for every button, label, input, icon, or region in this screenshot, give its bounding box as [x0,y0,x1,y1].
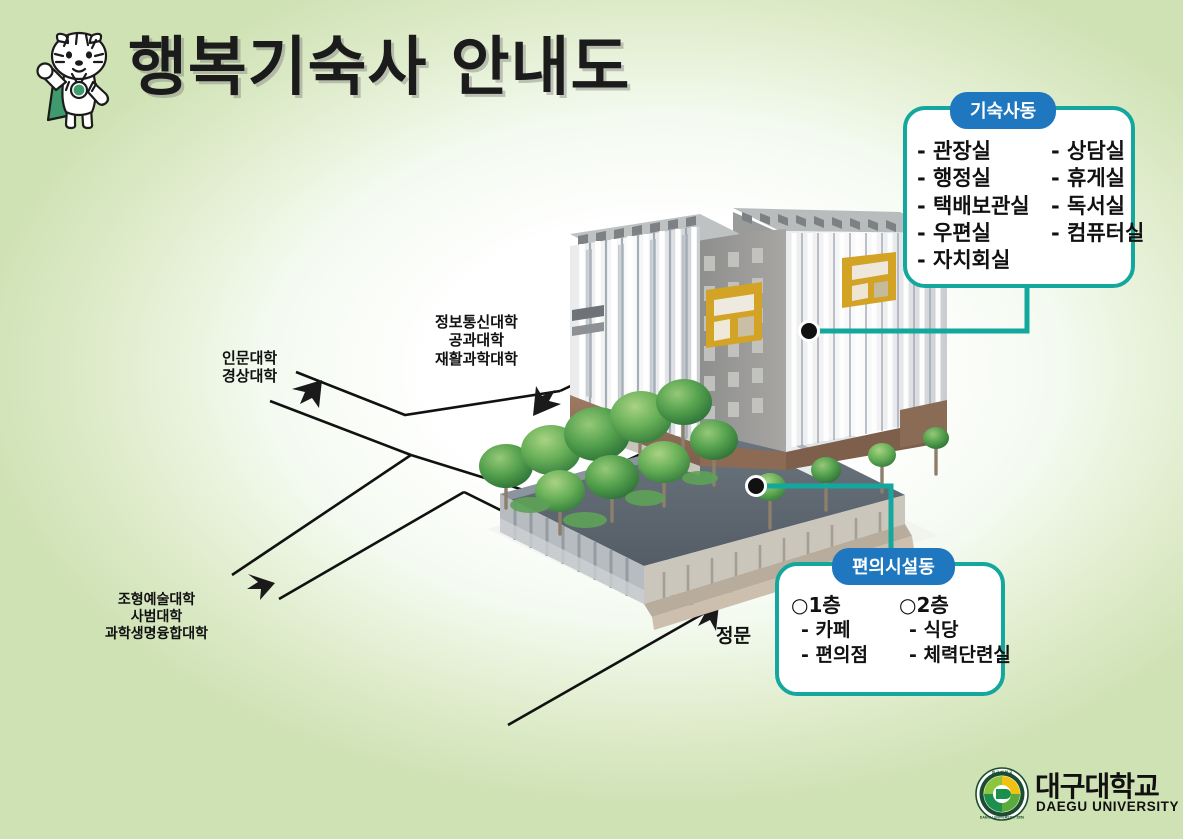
room-item: - 독서실 [1051,193,1144,220]
floor-label: ○2층 [899,592,1015,618]
label-ict-line1: 정보통신대학 [435,313,518,331]
label-ict-line2: 공과대학 [435,331,518,349]
callout-facility-title: 편의시설동 [832,548,955,585]
room-item: - 자치회실 [917,247,1039,274]
room-item: - 컴퓨터실 [1051,220,1144,247]
label-arts-line2: 사범대학 [105,609,208,626]
label-ict-line3: 재활과학대학 [435,350,518,368]
daegu-university-emblem-icon: 대 구 대 학 교 DAEGU UNIVERSITY 1956 [975,767,1029,821]
facility-item: - 체력단련실 [899,643,1015,668]
poster-canvas: 행복기숙사 안내도 정보통신대학 공과대학 재활과학대학 인문대학 경상대학 조… [0,0,1183,839]
label-main-gate: 정문 [716,625,751,648]
facility-item: - 카페 [791,618,891,643]
callout-facility-body: ○1층 - 카페 - 편의점 ○2층 - 식당 - 체력단련실 [791,592,1015,667]
callout-dormitory: 기숙사동 - 관장실 - 행정실 - 택배보관실 - 우편실 - 자치회실 - … [903,92,1135,288]
white-tiger-mascot-icon [22,24,134,136]
label-arts-college: 조형예술대학 사범대학 과학생명융합대학 [105,592,208,643]
callout-dormitory-column-1: - 관장실 - 행정실 - 택배보관실 - 우편실 - 자치회실 [917,138,1039,274]
logo-english-name: DAEGU UNIVERSITY [1036,799,1179,814]
callout-dormitory-body: - 관장실 - 행정실 - 택배보관실 - 우편실 - 자치회실 - 상담실 -… [917,138,1144,274]
facility-item: - 편의점 [791,643,891,668]
floor-label: ○1층 [791,592,891,618]
callout-facility-floor-2: ○2층 - 식당 - 체력단련실 [899,592,1015,667]
callout-dormitory-column-2: - 상담실 - 휴게실 - 독서실 - 컴퓨터실 [1051,138,1144,274]
label-arts-line1: 조형예술대학 [105,592,208,609]
label-humanities-college: 인문대학 경상대학 [222,349,277,386]
callout-dormitory-title: 기숙사동 [950,92,1056,129]
room-item: - 휴게실 [1051,165,1144,192]
svg-text:대 구 대 학 교: 대 구 대 학 교 [992,769,1013,774]
callout-facility: 편의시설동 ○1층 - 카페 - 편의점 ○2층 - 식당 - 체력단련실 [775,548,1005,696]
room-item: - 관장실 [917,138,1039,165]
label-humanities-line1: 인문대학 [222,349,277,367]
room-item: - 상담실 [1051,138,1144,165]
label-arts-line3: 과학생명융합대학 [105,626,208,643]
room-item: - 행정실 [917,165,1039,192]
svg-text:DAEGU UNIVERSITY 1956: DAEGU UNIVERSITY 1956 [980,816,1024,820]
university-logo: 대 구 대 학 교 DAEGU UNIVERSITY 1956 대구대학교 DA… [975,765,1165,823]
page-title: 행복기숙사 안내도 [128,36,630,100]
facility-item: - 식당 [899,618,1015,643]
room-item: - 우편실 [917,220,1039,247]
room-item: - 택배보관실 [917,193,1039,220]
label-humanities-line2: 경상대학 [222,367,277,385]
callout-facility-floor-1: ○1층 - 카페 - 편의점 [791,592,891,667]
label-ict-college: 정보통신대학 공과대학 재활과학대학 [435,313,518,368]
